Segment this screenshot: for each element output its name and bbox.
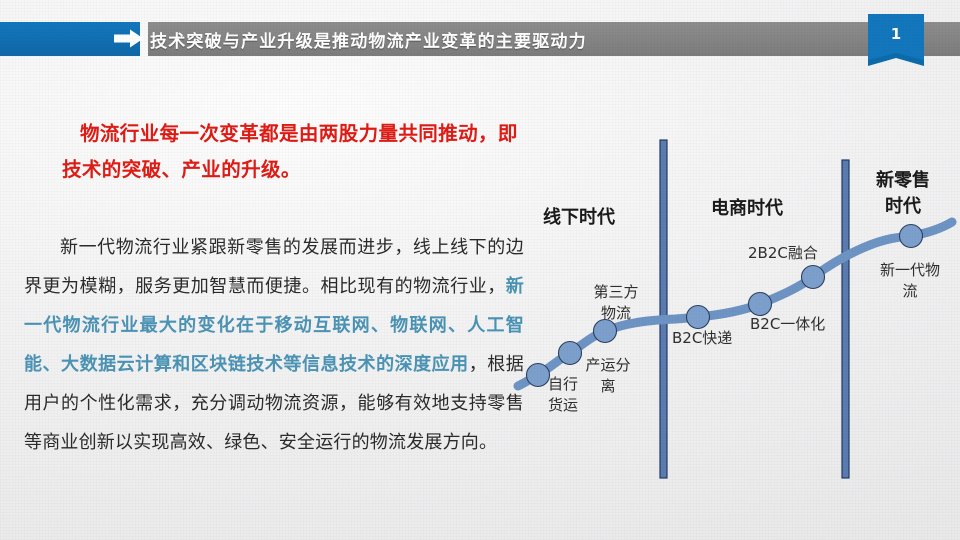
body-paragraph: 新一代物流行业紧跟新零售的发展而进步，线上线下的边界更为模糊，服务更加智慧而便捷… bbox=[24, 228, 524, 462]
page-title: 技术突破与产业升级是推动物流产业变革的主要驱动力 bbox=[150, 27, 587, 52]
data-point-label: 产运分 离 bbox=[580, 355, 636, 397]
data-point-label: 2B2C融合 bbox=[748, 243, 850, 264]
era-label-ecommerce: 电商时代 bbox=[692, 196, 802, 222]
era-label-newretail: 新零售 时代 bbox=[860, 168, 946, 220]
era-divider-1 bbox=[660, 140, 667, 478]
data-point-label: B2C快递 bbox=[672, 328, 758, 349]
red-headline: 物流行业每一次变革都是由两股力量共同推动，即技术的突破、产业的升级。 bbox=[62, 116, 528, 188]
slide-header: 技术突破与产业升级是推动物流产业变革的主要驱动力 bbox=[0, 22, 960, 56]
right-arrow-icon bbox=[114, 29, 144, 48]
data-point-marker bbox=[687, 306, 710, 329]
data-point-marker bbox=[900, 225, 923, 248]
data-point-marker bbox=[749, 293, 772, 316]
data-point-marker bbox=[802, 266, 825, 289]
page-number: 1 bbox=[868, 14, 924, 66]
data-point-label: B2C一体化 bbox=[750, 314, 850, 335]
body-text-part-1: 新一代物流行业紧跟新零售的发展而进步，线上线下的边界更为模糊，服务更加智慧而便捷… bbox=[24, 237, 524, 297]
page-number-ribbon: 1 bbox=[868, 14, 924, 66]
data-point-label: 第三方 物流 bbox=[586, 282, 646, 324]
era-label-offline: 线下时代 bbox=[524, 205, 634, 231]
data-point-label: 新一代物 流 bbox=[872, 260, 948, 302]
data-point-marker bbox=[559, 342, 582, 365]
